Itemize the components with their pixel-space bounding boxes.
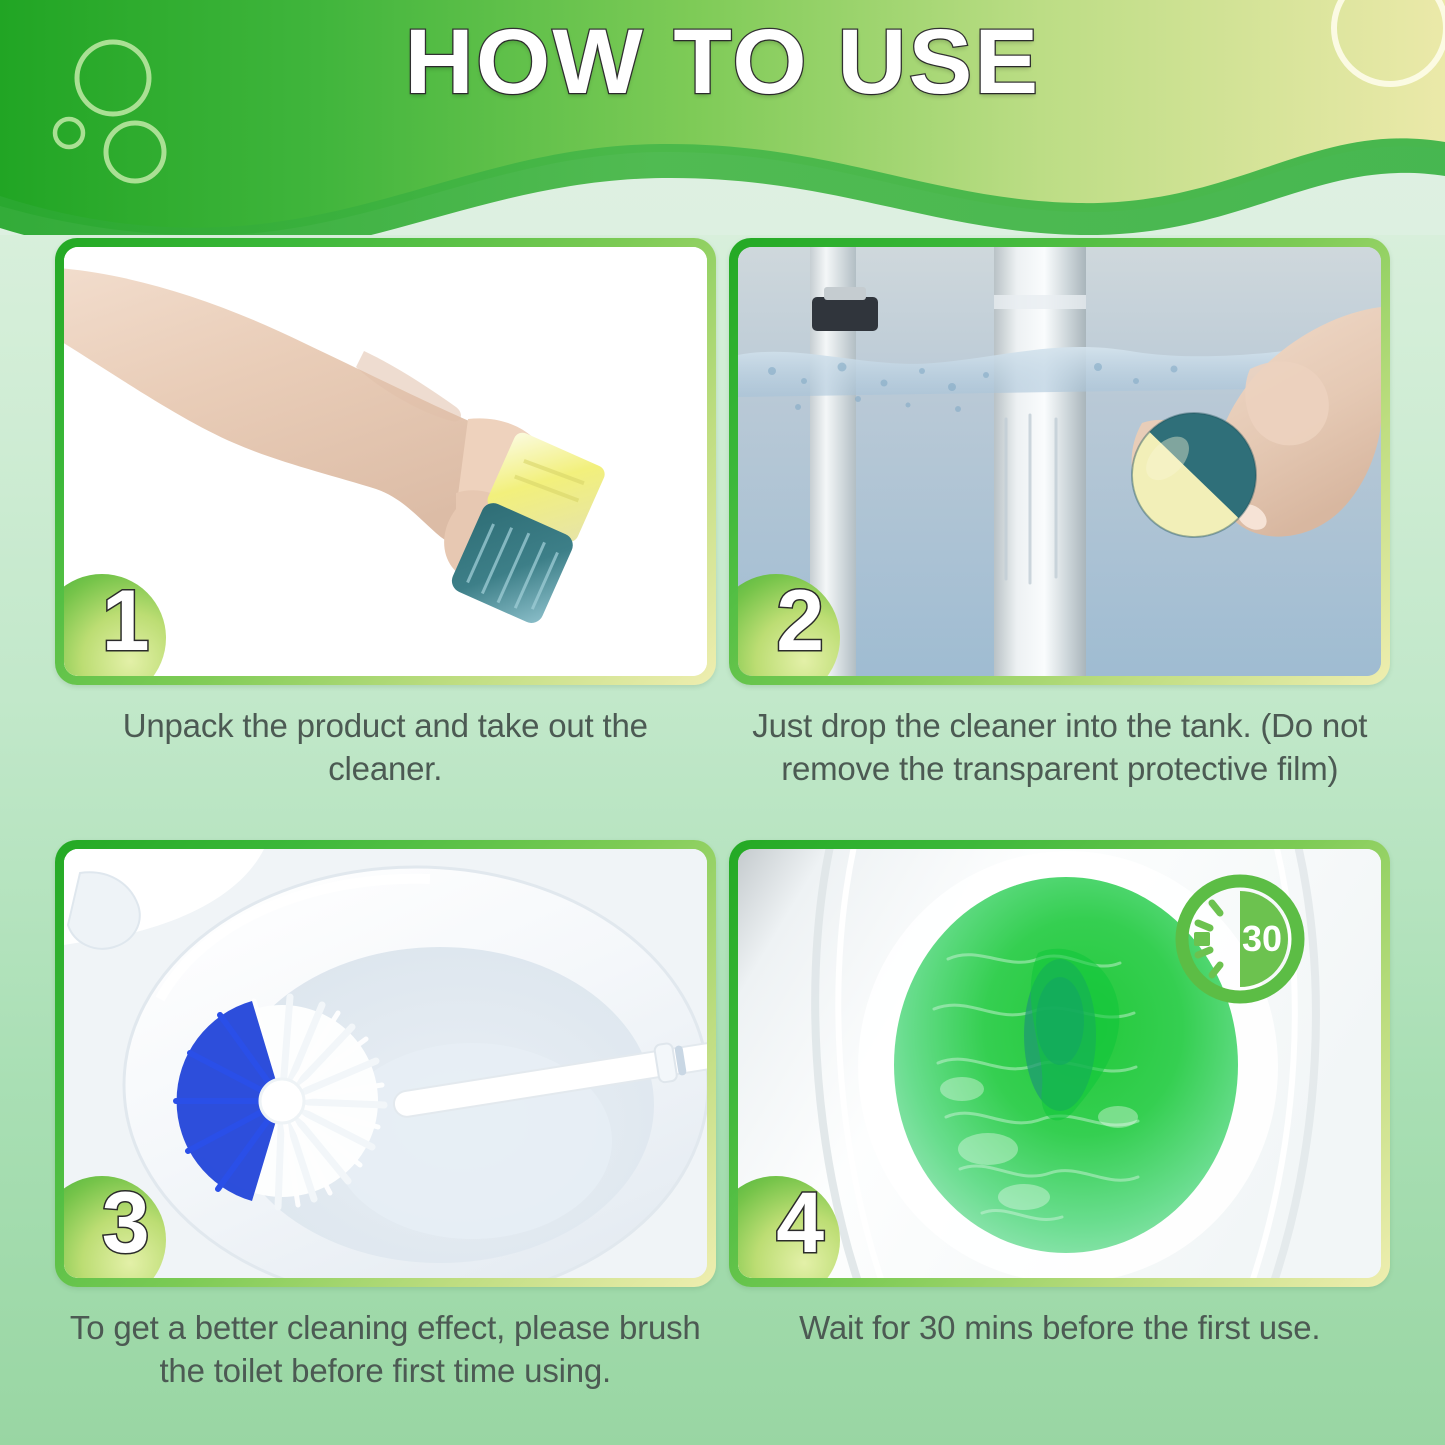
step-2-number: 2: [776, 578, 824, 664]
step-3-number: 3: [102, 1180, 150, 1266]
timer-value: 30: [1242, 918, 1282, 959]
step-2-image-frame: 2: [729, 238, 1390, 685]
step-4: 30 4 Wait for 30 mins before the first u…: [727, 840, 1394, 1440]
page-title: HOW TO USE: [0, 14, 1445, 111]
step-3-caption: To get a better cleaning effect, please …: [65, 1307, 705, 1392]
step-2: 2 Just drop the cleaner into the tank. (…: [727, 238, 1394, 838]
page-header: HOW TO USE: [0, 0, 1445, 235]
step-4-photo: 30 4: [738, 849, 1381, 1278]
step-4-number: 4: [776, 1180, 824, 1266]
step-1-photo: 1: [64, 247, 707, 676]
step-2-photo: 2: [738, 247, 1381, 676]
step-2-caption: Just drop the cleaner into the tank. (Do…: [740, 705, 1380, 790]
step-3: 3 To get a better cleaning effect, pleas…: [52, 840, 719, 1440]
step-3-photo: 3: [64, 849, 707, 1278]
step-1-image-frame: 1: [55, 238, 716, 685]
step-4-image-frame: 30 4: [729, 840, 1390, 1287]
timer-icon: 30: [1182, 881, 1298, 997]
step-4-caption: Wait for 30 mins before the first use.: [740, 1307, 1380, 1350]
step-3-image-frame: 3: [55, 840, 716, 1287]
step-1: 1 Unpack the product and take out the cl…: [52, 238, 719, 838]
step-1-caption: Unpack the product and take out the clea…: [65, 705, 705, 790]
steps-grid: 1 Unpack the product and take out the cl…: [0, 238, 1445, 1445]
step-1-number: 1: [102, 578, 150, 664]
